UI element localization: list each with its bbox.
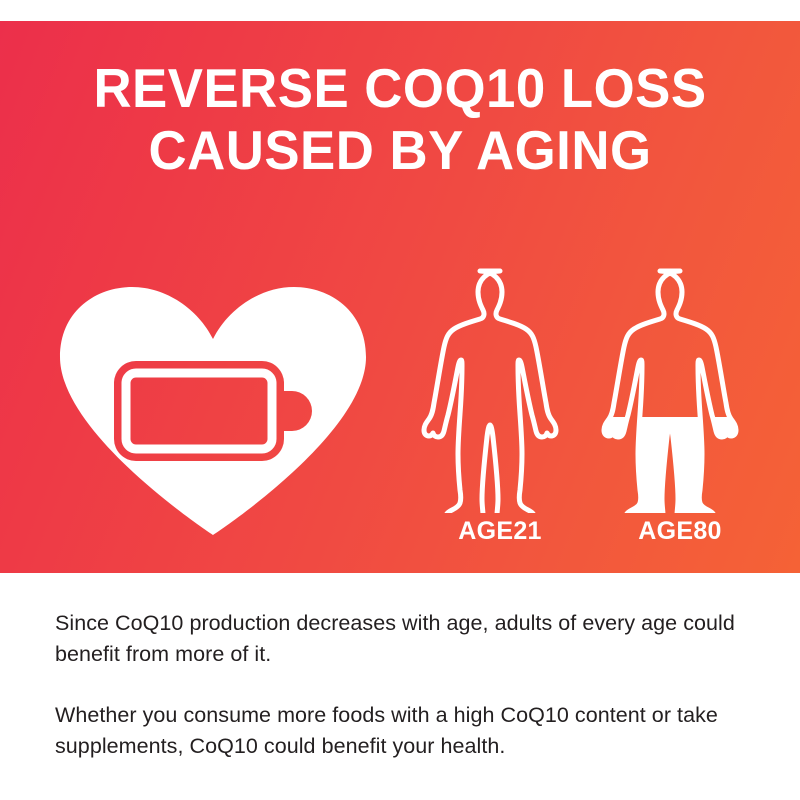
page-title: REVERSE COQ10 LOSS CAUSED BY AGING	[16, 57, 784, 181]
heart-battery-icon	[52, 283, 374, 541]
hero-panel: REVERSE COQ10 LOSS CAUSED BY AGING	[0, 21, 800, 573]
infographic-page: REVERSE COQ10 LOSS CAUSED BY AGING	[0, 0, 800, 800]
age-comparison-group: AGE21 AGE80	[410, 265, 770, 565]
body-figure-outline-icon	[420, 265, 580, 513]
age-label-old: AGE80	[600, 517, 760, 546]
heart-shape	[60, 287, 366, 535]
age-figure-old: AGE80	[600, 265, 760, 565]
body-copy: Since CoQ10 production decreases with ag…	[55, 608, 755, 762]
age-label-young: AGE21	[420, 517, 580, 546]
coq10-depletion-fill	[604, 271, 736, 513]
body-paragraph-1: Since CoQ10 production decreases with ag…	[55, 608, 755, 670]
body-paragraph-2: Whether you consume more foods with a hi…	[55, 700, 755, 762]
body-figure-filled-icon	[600, 265, 760, 513]
age-figure-young: AGE21	[420, 265, 580, 565]
